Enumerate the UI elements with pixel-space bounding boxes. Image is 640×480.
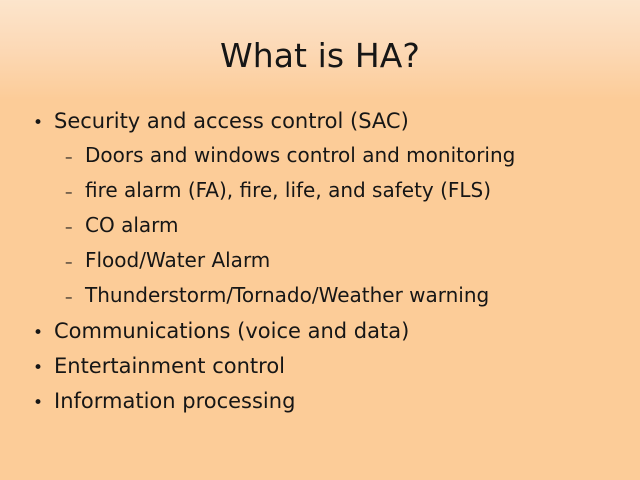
bullet-marker-icon: • [33,323,54,344]
bullet-text: Security and access control (SAC) [54,108,409,134]
bullet-marker-icon: • [33,358,54,379]
bullet-item: – Flood/Water Alarm [0,248,640,283]
bullet-text: Entertainment control [54,353,285,379]
bullet-item: • Security and access control (SAC) [0,108,640,143]
bullet-text: Doors and windows control and monitoring [85,143,515,168]
bullet-text: Thunderstorm/Tornado/Weather warning [85,283,489,308]
slide-body-bullet-list: • Security and access control (SAC) – Do… [0,108,640,423]
bullet-item: – fire alarm (FA), fire, life, and safet… [0,178,640,213]
bullet-item: • Communications (voice and data) [0,318,640,353]
slide-title: What is HA? [0,36,640,76]
dash-marker-icon: – [65,252,85,272]
slide-canvas: What is HA? • Security and access contro… [0,0,640,480]
bullet-text: CO alarm [85,213,179,238]
dash-marker-icon: – [65,182,85,202]
dash-marker-icon: – [65,147,85,167]
bullet-item: • Entertainment control [0,353,640,388]
bullet-marker-icon: • [33,393,54,414]
dash-marker-icon: – [65,217,85,237]
bullet-item: • Information processing [0,388,640,423]
bullet-text: fire alarm (FA), fire, life, and safety … [85,178,491,203]
bullet-text: Information processing [54,388,295,414]
bullet-text: Flood/Water Alarm [85,248,270,273]
bullet-text: Communications (voice and data) [54,318,409,344]
dash-marker-icon: – [65,287,85,307]
bullet-item: – Doors and windows control and monitori… [0,143,640,178]
bullet-marker-icon: • [33,113,54,134]
bullet-item: – Thunderstorm/Tornado/Weather warning [0,283,640,318]
bullet-item: – CO alarm [0,213,640,248]
